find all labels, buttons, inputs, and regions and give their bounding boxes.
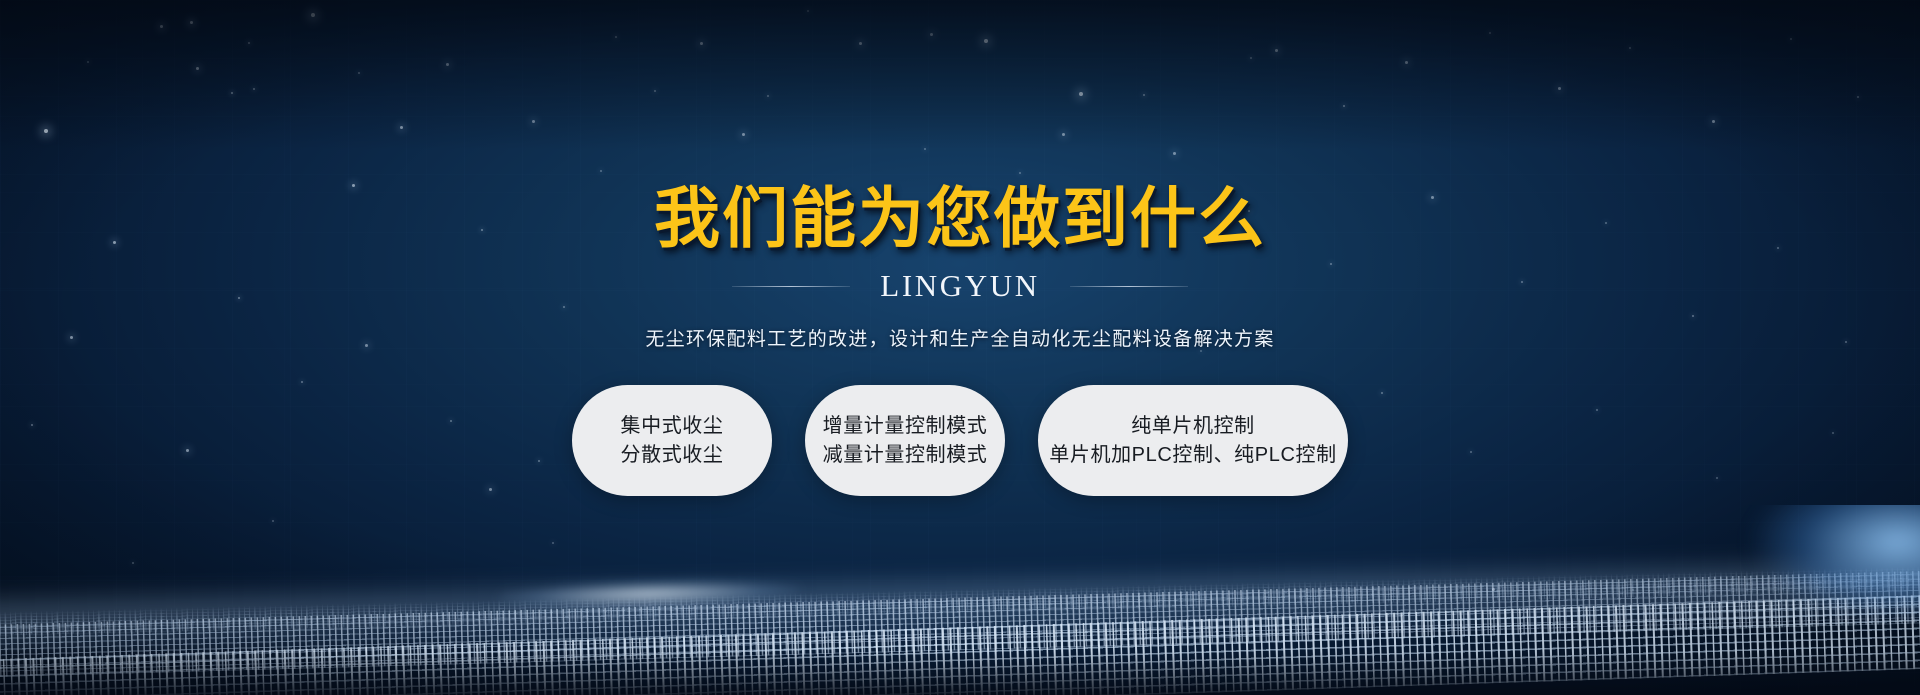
tagline: 无尘环保配料工艺的改进，设计和生产全自动化无尘配料设备解决方案	[645, 324, 1274, 351]
feature-card[interactable]: 纯单片机控制 单片机加PLC控制、纯PLC控制	[1038, 385, 1348, 496]
feature-card-line-1: 纯单片机控制	[1131, 416, 1255, 436]
banner-stage: 我们能为您做到什么 LINGYUN 无尘环保配料工艺的改进，设计和生产全自动化无…	[0, 0, 1920, 695]
feature-card[interactable]: 增量计量控制模式 减量计量控制模式	[805, 385, 1005, 496]
feature-card[interactable]: 集中式收尘 分散式收尘	[572, 385, 772, 496]
banner-content: 我们能为您做到什么 LINGYUN 无尘环保配料工艺的改进，设计和生产全自动化无…	[0, 0, 1920, 695]
page-title: 我们能为您做到什么	[654, 186, 1266, 252]
feature-card-line-2: 单片机加PLC控制、纯PLC控制	[1049, 445, 1336, 465]
divider-right	[1070, 286, 1188, 287]
feature-card-line-2: 分散式收尘	[621, 445, 724, 465]
feature-card-list: 集中式收尘 分散式收尘 增量计量控制模式 减量计量控制模式 纯单片机控制 单片机…	[572, 385, 1348, 496]
feature-card-line-2: 减量计量控制模式	[823, 445, 988, 465]
divider-left	[732, 286, 850, 287]
feature-card-line-1: 增量计量控制模式	[823, 416, 988, 436]
brand-name: LINGYUN	[880, 268, 1039, 304]
feature-card-line-1: 集中式收尘	[621, 416, 724, 436]
brand-row: LINGYUN	[732, 268, 1187, 304]
